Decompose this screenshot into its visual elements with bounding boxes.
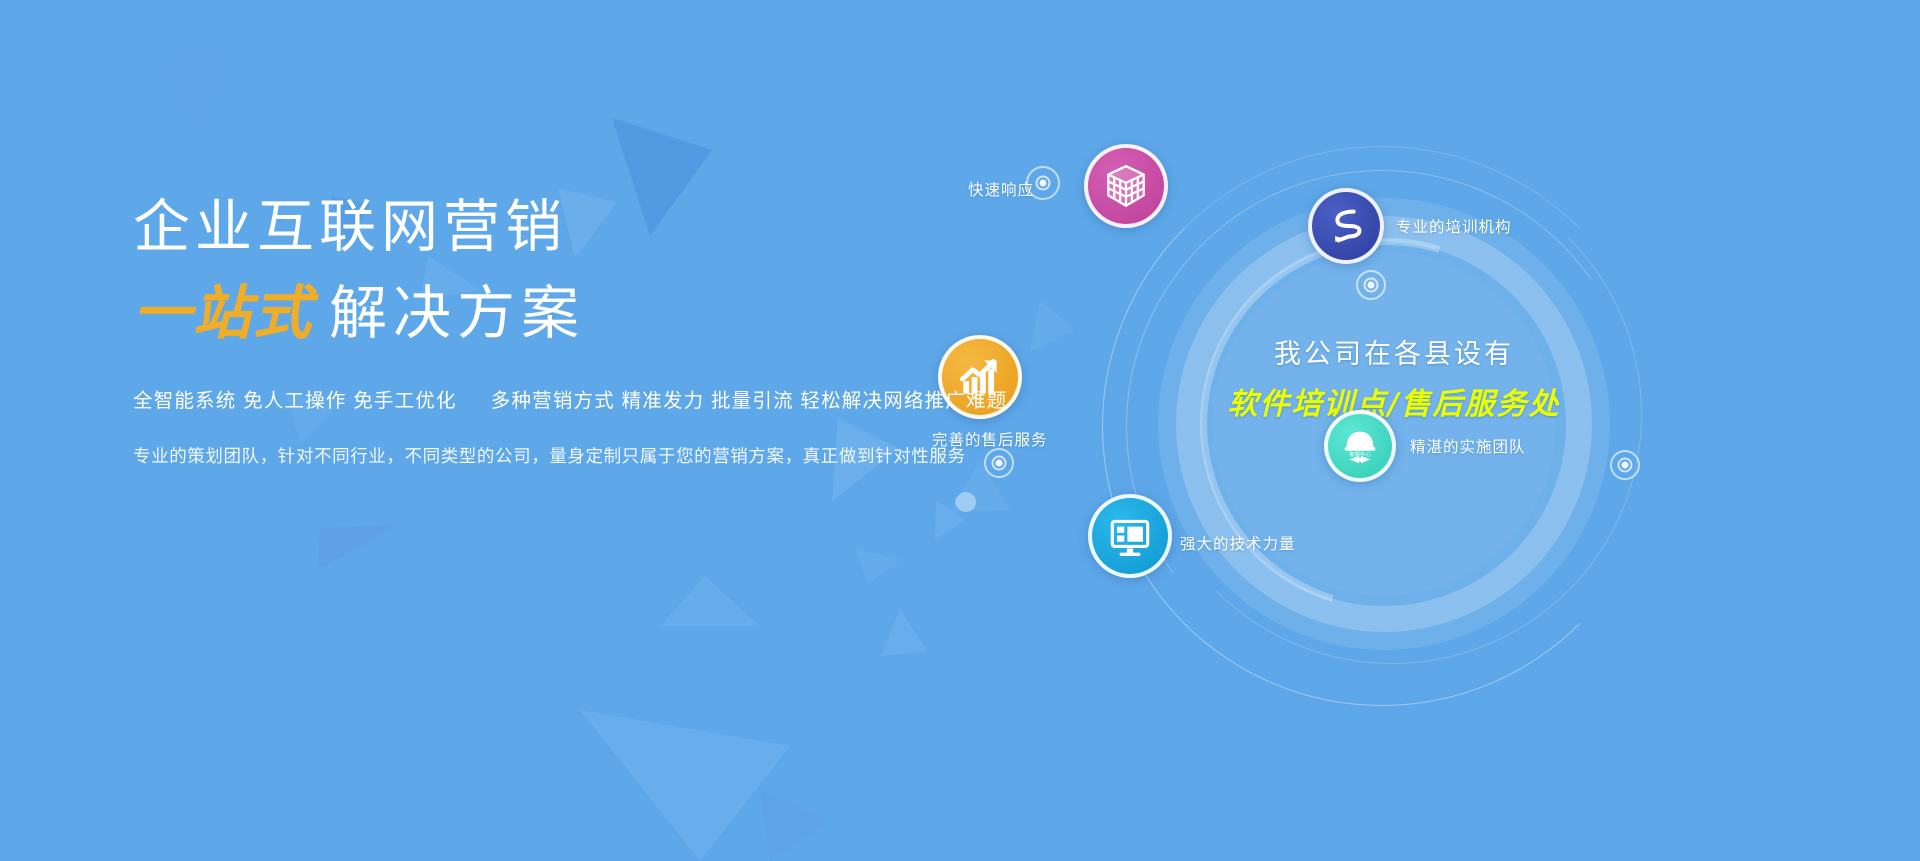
orbit-graphic: 我公司在各县设有 软件培训点/售后服务处 <box>1080 120 1700 740</box>
triangle-shape <box>880 610 928 656</box>
triangle-shape <box>155 40 235 140</box>
professional-training-label: 专业的培训机构 <box>1396 215 1512 237</box>
skilled-team-label: 精湛的实施团队 <box>1410 435 1526 457</box>
headline-plain-text: 解决方案 <box>329 281 585 346</box>
ripple-center-dot <box>1040 180 1047 187</box>
triangle-shape <box>318 524 400 570</box>
headline-secondary: 一站式解决方案 <box>133 282 1053 346</box>
ripple-target-right <box>1610 450 1640 480</box>
customer-service-hat-caption: 客服中心 <box>1349 450 1371 458</box>
center-message: 我公司在各县设有 软件培训点/售后服务处 <box>1184 332 1604 423</box>
marketing-banner: 企业互联网营销 一站式解决方案 全智能系统 免人工操作 免手工优化多种营销方式 … <box>0 0 1920 861</box>
page-title: 企业互联网营销 <box>133 196 1053 260</box>
pencil-scribble-icon <box>1323 203 1369 249</box>
strong-technology-label: 强大的技术力量 <box>1180 532 1296 554</box>
skilled-team-bubble[interactable]: 客服中心 <box>1324 410 1396 482</box>
ripple-center-dot <box>1368 282 1375 289</box>
headline-brush-text: 一站式 <box>133 279 313 347</box>
fast-response-bubble[interactable] <box>1084 144 1168 228</box>
ripple-target-upper-right <box>1356 270 1386 300</box>
triangle-shape <box>660 576 760 626</box>
customer-service-hat-icon: 客服中心 <box>1337 423 1383 469</box>
triangle-shape <box>760 790 830 861</box>
monitor-icon <box>1105 511 1155 561</box>
triangle-shape <box>580 710 790 861</box>
cube-icon <box>1101 161 1151 211</box>
subtitle-description: 专业的策划团队，针对不同行业，不同类型的公司，量身定制只属于您的营销方案，真正做… <box>133 443 1053 468</box>
strong-technology-bubble[interactable] <box>1088 494 1172 578</box>
subtitle-features-part1: 全智能系统 免人工操作 免手工优化 <box>133 390 457 412</box>
subtitle-features: 全智能系统 免人工操作 免手工优化多种营销方式 精准发力 批量引流 轻松解决网络… <box>133 384 1053 413</box>
subtitle-features-part2: 多种营销方式 精准发力 批量引流 轻松解决网络推广难题 <box>491 390 1008 412</box>
center-message-line1: 我公司在各县设有 <box>1184 332 1604 371</box>
center-message-line2: 软件培训点/售后服务处 <box>1184 379 1604 423</box>
triangle-shape <box>855 548 902 584</box>
ripple-center-dot <box>1622 462 1629 469</box>
professional-training-bubble[interactable] <box>1308 188 1384 264</box>
headline-copy-block: 企业互联网营销 一站式解决方案 全智能系统 免人工操作 免手工优化多种营销方式 … <box>133 196 1053 468</box>
